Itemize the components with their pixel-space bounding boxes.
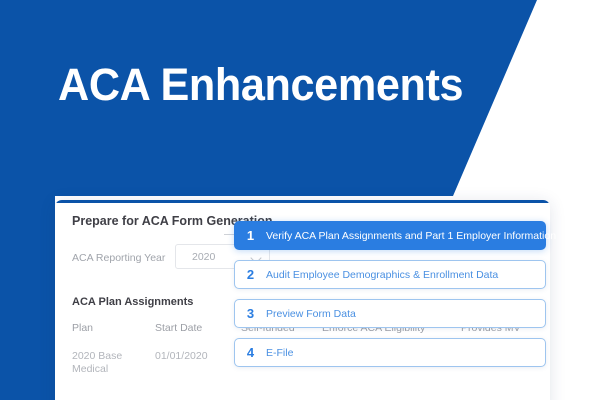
step-number-2: 2 <box>235 267 266 282</box>
table-header-plan: Plan <box>72 322 142 334</box>
step-number-1: 1 <box>235 228 266 243</box>
reporting-year-label: ACA Reporting Year <box>72 252 165 264</box>
plan-assignments-heading: ACA Plan Assignments <box>72 296 193 308</box>
step-number-4: 4 <box>235 345 266 360</box>
screenshot-root: ACA Enhancements Prepare for ACA Form Ge… <box>0 0 600 400</box>
table-cell-start-date: 01/01/2020 <box>155 350 233 363</box>
step-label-3: Preview Form Data <box>266 308 356 320</box>
table-header-start-date: Start Date <box>155 322 233 334</box>
reporting-year-value: 2020 <box>192 251 215 263</box>
table-row: 2020 Base Medical <box>72 350 142 376</box>
step-item-3[interactable]: 3 Preview Form Data <box>234 299 546 328</box>
step-number-3: 3 <box>235 306 266 321</box>
step-label-1: Verify ACA Plan Assignments and Part 1 E… <box>266 230 556 242</box>
step-label-2: Audit Employee Demographics & Enrollment… <box>266 269 498 281</box>
page-title: ACA Enhancements <box>58 58 463 112</box>
step-item-1[interactable]: 1 Verify ACA Plan Assignments and Part 1… <box>234 221 546 250</box>
step-item-4[interactable]: 4 E-File <box>234 338 546 367</box>
step-label-4: E-File <box>266 347 293 359</box>
card-accent-bar <box>55 200 550 203</box>
step-item-2[interactable]: 2 Audit Employee Demographics & Enrollme… <box>234 260 546 289</box>
